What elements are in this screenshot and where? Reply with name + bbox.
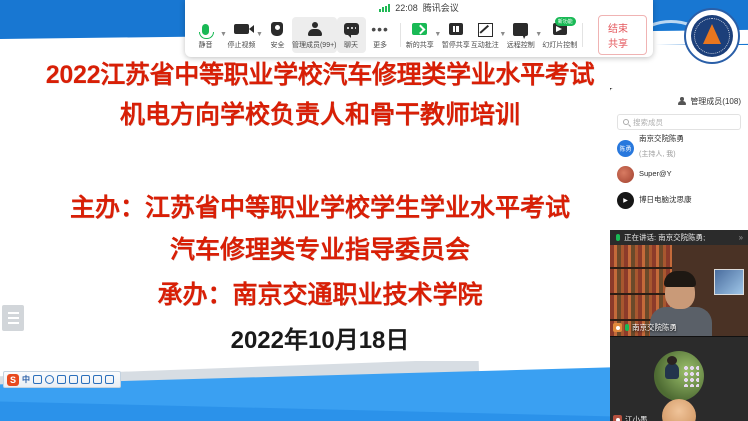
slide-organizer-line1: 主办：江苏省中等职业学校学生学业水平考试 [0, 188, 640, 224]
participant-role: (主持人, 我) [639, 151, 676, 158]
security-button-label: 安全 [270, 40, 284, 50]
participant-name: Super@Y [639, 170, 672, 179]
video-tile-name-row: 南京交院陈勇 [613, 322, 677, 333]
new-share-chevron-down-icon[interactable]: ▼ [434, 17, 441, 53]
slide-control-icon: 新功能 [553, 21, 567, 38]
chat-button[interactable]: 聊天 [337, 17, 366, 53]
new-share-icon [412, 21, 427, 38]
slide-organizer-line3: 承办：南京交通职业技术学院 [0, 275, 640, 311]
meeting-time: 22:08 [395, 3, 418, 13]
participants-list: 陈勇 南京交院陈勇 (主持人, 我) Super@Y ▶ 博日电脑沈思康 [617, 135, 741, 213]
new-share-button-label: 新的共享 [406, 40, 434, 50]
active-speaker-bar: 正在讲话: 南京交院陈勇; ›› [610, 230, 748, 245]
members-panel: 管理成员(108) 搜索成员 陈勇 南京交院陈勇 (主持人, 我) Super@… [610, 88, 748, 230]
list-item[interactable]: 陈勇 南京交院陈勇 (主持人, 我) [617, 135, 741, 161]
more-dots-icon: ••• [371, 21, 389, 38]
pause-share-button-label: 暂停共享 [442, 40, 470, 50]
stop-video-button-label: 停止视频 [227, 40, 255, 50]
skin-icon[interactable] [93, 375, 102, 384]
slide-control-badge: 新功能 [555, 17, 576, 26]
remote-control-button[interactable]: 远程控制 [506, 17, 535, 53]
avatar [662, 399, 696, 421]
remote-control-icon [513, 21, 528, 38]
manage-members-icon [307, 21, 322, 38]
host-badge-icon [613, 323, 622, 332]
microphone-icon [616, 234, 620, 241]
pause-share-button[interactable]: 暂停共享 [441, 17, 470, 53]
more-button[interactable]: ••• 更多 [366, 17, 395, 53]
members-panel-title: 管理成员(108) [690, 96, 741, 107]
school-emblem-icon [684, 8, 740, 64]
slide-control-button-label: 幻灯片控制 [542, 40, 577, 50]
stop-video-button[interactable]: 停止视频 [227, 17, 256, 53]
list-item[interactable]: Super@Y [617, 161, 741, 187]
mute-button-label: 静音 [199, 40, 213, 50]
sogou-ime-toolbar[interactable]: S 中 [3, 371, 121, 388]
participant-name: 南京交院陈勇 [639, 135, 684, 144]
chat-button-label: 聊天 [344, 40, 358, 50]
security-button[interactable]: 安全 [263, 17, 292, 53]
video-tile[interactable]: 南京交院陈勇 [610, 245, 748, 337]
ime-mode-label[interactable]: 中 [22, 374, 30, 385]
search-icon [623, 119, 629, 125]
video-options-chevron-down-icon[interactable]: ▼ [256, 17, 263, 53]
avatar: ▶ [617, 192, 634, 209]
more-button-label: 更多 [373, 40, 387, 50]
search-members-input[interactable]: 搜索成员 [617, 114, 741, 130]
emoji-icon[interactable] [45, 375, 54, 384]
half-width-icon[interactable] [33, 375, 42, 384]
mute-options-chevron-down-icon[interactable]: ▼ [220, 17, 227, 53]
slide-title-line2: 机电方向学校负责人和骨干教师培训 [0, 95, 640, 131]
new-share-button[interactable]: 新的共享 [405, 17, 434, 53]
voice-input-icon[interactable] [57, 375, 66, 384]
video-tile-partial[interactable] [610, 393, 748, 421]
toolbar-divider-2 [582, 23, 583, 47]
handwriting-icon[interactable] [81, 375, 90, 384]
chat-icon [344, 21, 359, 38]
end-share-button[interactable]: 结束共享 [598, 15, 647, 55]
microphone-icon [202, 21, 209, 38]
avatar [617, 166, 634, 183]
collapse-chevron-icon[interactable]: ›› [739, 233, 742, 242]
pause-share-icon [449, 21, 463, 38]
manage-members-button-label: 管理成员(99+) [292, 40, 337, 50]
sogou-logo-icon[interactable]: S [7, 374, 19, 386]
search-placeholder: 搜索成员 [633, 117, 663, 128]
signal-strength-icon [379, 4, 390, 12]
microphone-icon [625, 324, 629, 331]
collapsed-panel-handle[interactable] [2, 305, 24, 331]
slide-organizer-line2: 汽车修理类专业指导委员会 [0, 230, 640, 266]
meeting-toolbar: 22:08 腾讯会议 静音 ▼ 停止视频 ▼ 安全 管理成员(99+) 聊天 •… [185, 0, 653, 57]
manage-members-button[interactable]: 管理成员(99+) [292, 17, 337, 53]
active-speaker-label: 正在讲话: 南京交院陈勇; [624, 232, 705, 243]
camera-icon [234, 21, 249, 38]
avatar: 陈勇 [617, 140, 634, 157]
shield-icon [271, 21, 283, 38]
toolbox-icon[interactable] [105, 375, 114, 384]
remote-control-chevron-down-icon[interactable]: ▼ [535, 17, 542, 53]
annotation-button[interactable]: 互动批注 [470, 17, 499, 53]
members-panel-header: 管理成员(108) [617, 94, 741, 108]
meeting-app-name: 腾讯会议 [423, 1, 459, 14]
slide-control-button[interactable]: 新功能 幻灯片控制 [542, 17, 577, 53]
annotation-button-label: 互动批注 [471, 40, 499, 50]
keyboard-icon[interactable] [69, 375, 78, 384]
list-item[interactable]: ▶ 博日电脑沈思康 [617, 187, 741, 213]
mute-button[interactable]: 静音 [191, 17, 220, 53]
toolbar-status-bar: 22:08 腾讯会议 [185, 0, 653, 15]
annotation-icon [478, 21, 492, 38]
slide-title-line1: 2022江苏省中等职业学校汽车修理类学业水平考试 [0, 55, 640, 91]
toolbar-divider [400, 23, 401, 47]
right-panel: 管理成员(108) 搜索成员 陈勇 南京交院陈勇 (主持人, 我) Super@… [610, 88, 748, 421]
annotation-chevron-down-icon[interactable]: ▼ [499, 17, 506, 53]
toolbar-buttons-row: 静音 ▼ 停止视频 ▼ 安全 管理成员(99+) 聊天 ••• 更多 新的共享 [185, 15, 653, 55]
remote-control-button-label: 远程控制 [507, 40, 535, 50]
slide-date: 2022年10月18日 [0, 320, 640, 355]
video-tile-name: 南京交院陈勇 [632, 322, 677, 333]
members-icon [677, 97, 686, 105]
participant-name: 博日电脑沈思康 [639, 196, 692, 205]
